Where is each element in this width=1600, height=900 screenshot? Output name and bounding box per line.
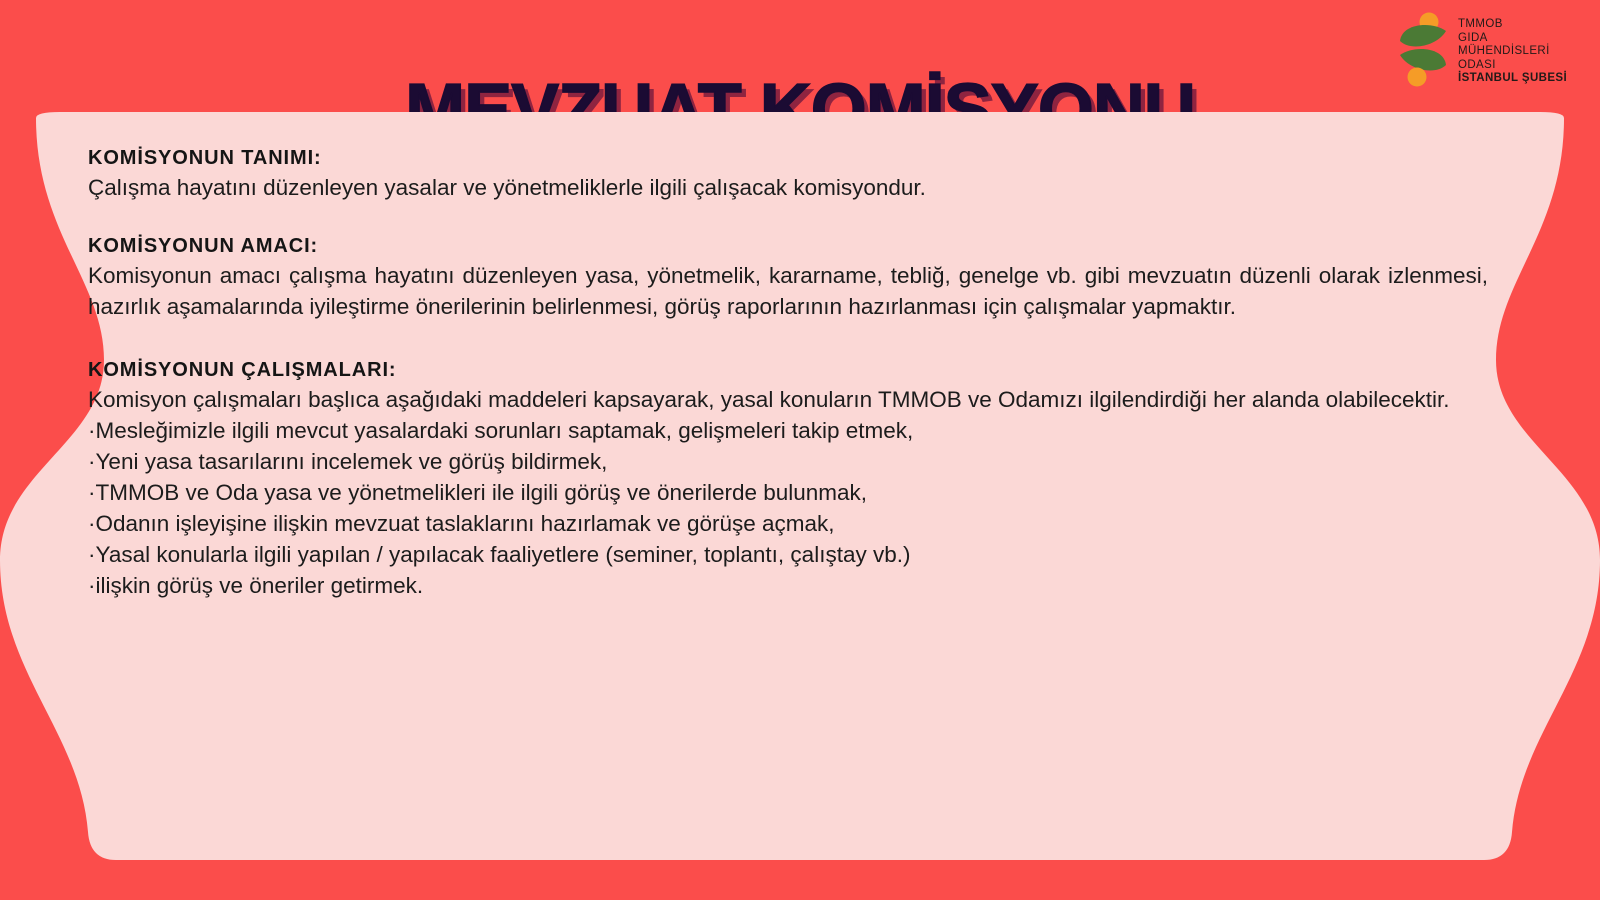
logo-leaf-lower (1400, 49, 1446, 70)
section-komisyonun-tanimi: KOMİSYONUN TANIMI: Çalışma hayatını düze… (88, 144, 1488, 203)
list-item: ·Mesleğimizle ilgili mevcut yasalardaki … (88, 415, 1488, 446)
list-item: ·TMMOB ve Oda yasa ve yönetmelikleri ile… (88, 477, 1488, 508)
list-item: ·Yasal konularla ilgili yapılan / yapıla… (88, 539, 1488, 570)
logo-line-muhendisleri: MÜHENDİSLERİ (1458, 45, 1567, 59)
slide-header: MEVZUAT KOMİSYONU TMMOB GIDA MÜHENDİSLER… (0, 0, 1600, 116)
slide-root: MEVZUAT KOMİSYONU TMMOB GIDA MÜHENDİSLER… (0, 0, 1600, 900)
logo-circle-bottom (1408, 68, 1427, 87)
logo-line-gida: GIDA (1458, 32, 1567, 46)
organization-logo: TMMOB GIDA MÜHENDİSLERİ ODASI İSTANBUL Ş… (1392, 10, 1588, 92)
calismalari-bullet-list: ·Mesleğimizle ilgili mevcut yasalardaki … (88, 415, 1488, 601)
section-komisyonun-amaci: KOMİSYONUN AMACI: Komisyonun amacı çalış… (88, 232, 1488, 322)
section-heading-tanimi: KOMİSYONUN TANIMI: (88, 144, 1488, 172)
tmmob-leaf-logo-icon (1392, 11, 1454, 91)
logo-text-block: TMMOB GIDA MÜHENDİSLERİ ODASI İSTANBUL Ş… (1458, 16, 1567, 86)
section-body-calismalari: Komisyon çalışmaları başlıca aşağıdaki m… (88, 384, 1488, 415)
section-heading-calismalari: KOMİSYONUN ÇALIŞMALARI: (88, 356, 1488, 384)
logo-line-odasi: ODASI (1458, 59, 1567, 73)
list-item: ·ilişkin görüş ve öneriler getirmek. (88, 570, 1488, 601)
card-content: KOMİSYONUN TANIMI: Çalışma hayatını düze… (88, 142, 1488, 832)
section-body-tanimi: Çalışma hayatını düzenleyen yasalar ve y… (88, 172, 1488, 203)
logo-line-istanbul-subesi: İSTANBUL ŞUBESİ (1458, 72, 1567, 86)
section-body-amaci: Komisyonun amacı çalışma hayatını düzenl… (88, 260, 1488, 322)
list-item: ·Odanın işleyişine ilişkin mevzuat tasla… (88, 508, 1488, 539)
list-item: ·Yeni yasa tasarılarını incelemek ve gör… (88, 446, 1488, 477)
logo-mark-svg (1392, 11, 1454, 91)
content-card: KOMİSYONUN TANIMI: Çalışma hayatını düze… (0, 112, 1600, 860)
logo-line-tmmob: TMMOB (1458, 18, 1567, 32)
section-komisyonun-calismalari: KOMİSYONUN ÇALIŞMALARI: Komisyon çalışma… (88, 356, 1488, 601)
section-heading-amaci: KOMİSYONUN AMACI: (88, 232, 1488, 260)
logo-leaf-upper (1400, 25, 1446, 46)
